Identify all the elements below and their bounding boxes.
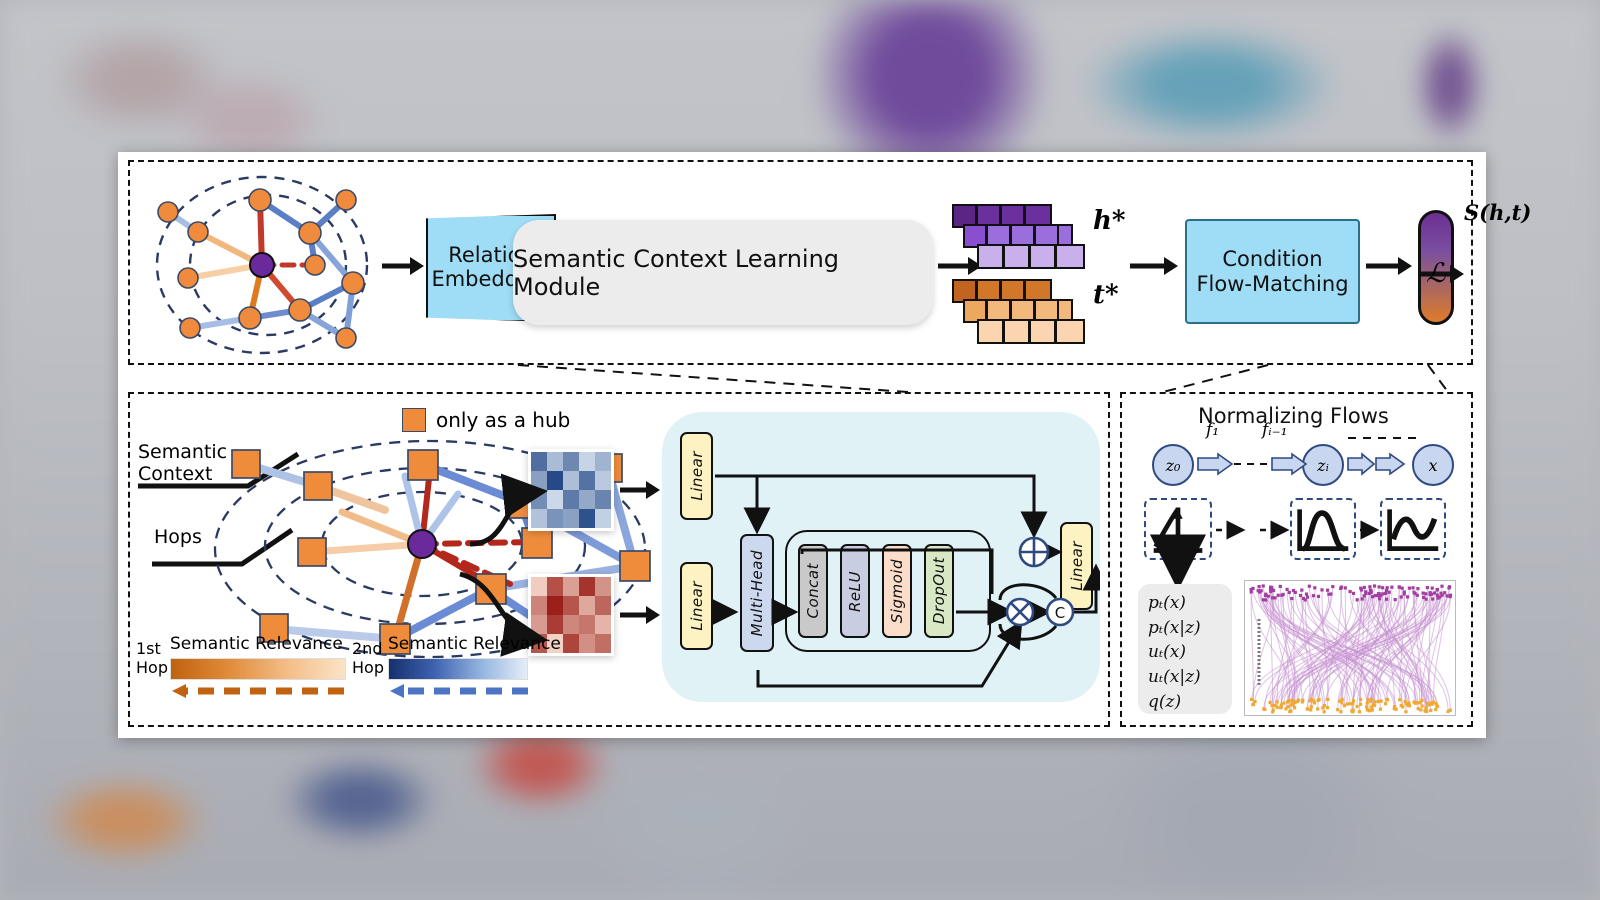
flow-equations-box: pₜ(x) pₜ(x|z) uₜ(x) uₜ(x|z) q(z) [1138, 584, 1232, 714]
second-hop-legend-labels: 2nd Hop [352, 640, 384, 678]
svg-text:C: C [1055, 604, 1065, 622]
first-hop-legend-title: Semantic Relevance [170, 634, 343, 654]
semantic-context-detail-panel: only as a hub Semantic Context Hops [128, 392, 1110, 727]
flow-transport-scatter [1244, 580, 1456, 716]
tail-token-label: t* [1093, 280, 1119, 310]
first-hop-line2: Hop [136, 659, 168, 678]
semantic-context-learning-module: Semantic Context Learning Module [513, 220, 933, 325]
second-hop-colorbar [388, 658, 528, 680]
equation-q-z: q(z) [1148, 690, 1222, 715]
first-hop-line1: 1st [136, 640, 168, 659]
cfm-line2: Flow-Matching [1196, 272, 1348, 296]
equation-pt-x: pₜ(x) [1148, 591, 1222, 616]
first-hop-direction-arrow [168, 682, 348, 700]
pipeline-overview-panel: Relation Embedding Semantic Context Lear… [128, 160, 1473, 365]
condition-flow-matching-block: Condition Flow-Matching [1185, 219, 1360, 324]
first-hop-colorbar [170, 658, 346, 680]
second-hop-direction-arrow [386, 682, 532, 700]
equation-pt-x-z: pₜ(x|z) [1148, 616, 1222, 641]
figure-card: Relation Embedding Semantic Context Lear… [118, 152, 1486, 738]
first-hop-legend-labels: 1st Hop [136, 640, 168, 678]
loss-label: ℒ [1426, 258, 1445, 289]
second-hop-line1: 2nd [352, 640, 384, 659]
module-wiring: C [662, 412, 1100, 702]
equation-ut-x-z: uₜ(x|z) [1148, 665, 1222, 690]
cfm-line1: Condition [1196, 247, 1348, 271]
equation-ut-x: uₜ(x) [1148, 640, 1222, 665]
input-graph-illustration [150, 170, 380, 360]
normalizing-flows-panel: Normalizing Flows z₀ zᵢ x f₁ fᵢ₋₁ [1120, 392, 1473, 727]
score-label: S(h,t) [1464, 200, 1531, 225]
second-hop-line2: Hop [352, 659, 384, 678]
head-token-label: h* [1093, 206, 1126, 236]
semantic-module-label: Semantic Context Learning Module [513, 245, 933, 301]
second-hop-legend-title: Semantic Relevance [388, 634, 561, 654]
